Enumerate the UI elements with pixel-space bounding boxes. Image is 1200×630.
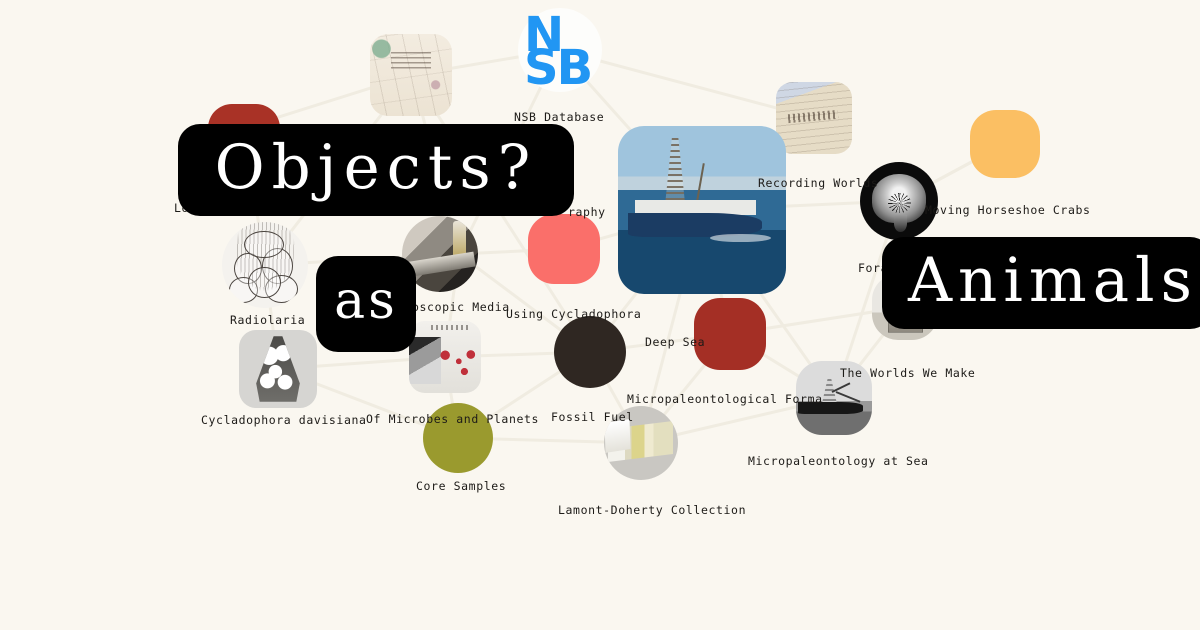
salmon-rounded-square[interactable] xyxy=(528,214,600,284)
label-nsb-database[interactable]: NSB Database xyxy=(514,112,604,124)
label-deep-sea[interactable]: Deep Sea xyxy=(645,337,705,349)
label-micropaleontology-at-sea[interactable]: Micropaleontology at Sea xyxy=(748,456,929,468)
microfossil-photo-thumbnail[interactable] xyxy=(239,330,317,408)
label-lamont-doherty-collection[interactable]: Lamont-Doherty Collection xyxy=(558,505,746,517)
headline-chip-as: as xyxy=(316,256,416,352)
historic-ship-boom2 xyxy=(832,382,851,392)
orange-rounded-square[interactable] xyxy=(970,110,1040,178)
manuscript-photo-thumbnail[interactable] xyxy=(776,82,852,154)
dark-brown-circle[interactable] xyxy=(554,316,626,388)
label-fossil-fuel[interactable]: Fossil Fuel xyxy=(551,412,634,424)
label-moving-horseshoe-crabs[interactable]: Moving Horseshoe Crabs xyxy=(925,205,1091,217)
radiolaria-drawing-thumbnail[interactable] xyxy=(222,222,308,308)
headline-chip-animals: Animals xyxy=(882,237,1200,329)
label-of-microbes-and-planets[interactable]: Of Microbes and Planets xyxy=(366,414,539,426)
document-hdr xyxy=(431,325,468,329)
poster-canvas: NSB LoNSB DatabaseRecording WorldsMoving… xyxy=(0,0,1200,630)
document-dots xyxy=(438,345,478,378)
label-oscopic-media[interactable]: oscopic Media xyxy=(412,302,510,314)
drillship-photo-thumbnail[interactable] xyxy=(618,126,786,294)
label-radiolaria[interactable]: Radiolaria xyxy=(230,315,305,327)
microfossil-body xyxy=(256,336,300,402)
drillship-derrick xyxy=(665,138,685,205)
radiolaria-hatching xyxy=(222,222,308,308)
antique-map-thumbnail[interactable] xyxy=(370,34,452,116)
label-using-cycladophora[interactable]: Using Cycladophora xyxy=(506,309,641,321)
nsb-logo-node[interactable]: NSB xyxy=(518,8,602,92)
label-recording-worlds[interactable]: Recording Worlds xyxy=(758,178,878,190)
headline-chip-objects: Objects? xyxy=(178,124,574,216)
label-raphy[interactable]: raphy xyxy=(568,207,606,219)
label-cycladophora-davisiana[interactable]: Cycladophora davisiana xyxy=(201,415,367,427)
drillship-wake xyxy=(710,234,770,242)
dark-red-rounded-square[interactable] xyxy=(694,298,766,370)
document-map-thumbnail[interactable] xyxy=(409,321,481,393)
label-core-samples[interactable]: Core Samples xyxy=(416,481,506,493)
crab-tail xyxy=(894,215,906,232)
label-the-worlds-we-make[interactable]: The Worlds We Make xyxy=(840,368,975,380)
label-micropaleontological-formations[interactable]: Micropaleontological Forma xyxy=(627,394,823,406)
nsb-logo-letters-sb: SB xyxy=(524,44,591,92)
document-photo xyxy=(409,337,441,385)
historic-ship-boom1 xyxy=(835,391,860,403)
horseshoe-crab-scan-thumbnail[interactable] xyxy=(860,162,938,240)
